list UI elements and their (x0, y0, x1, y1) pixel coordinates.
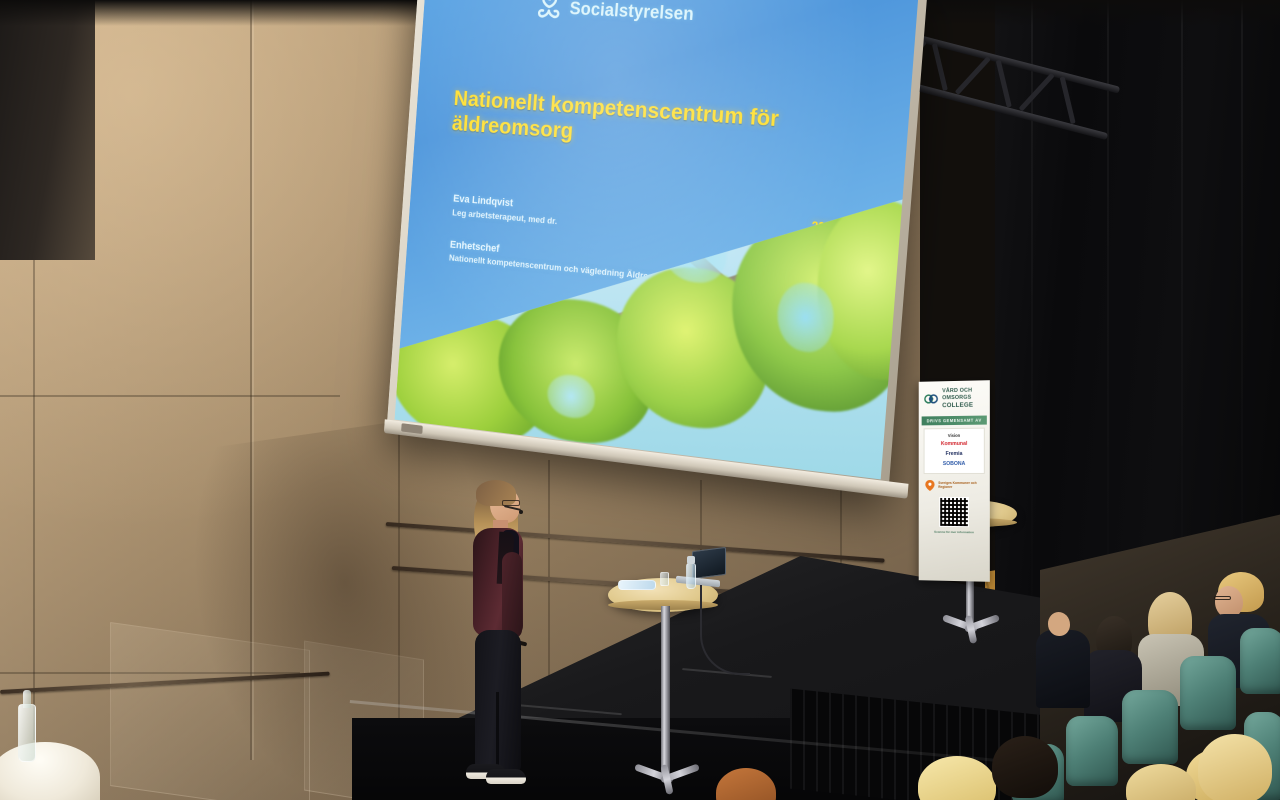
bottle-neck (23, 690, 31, 708)
auditorium-seat (1240, 628, 1280, 694)
microphone-tip (519, 510, 523, 514)
presentation-photo-scene: Socialstyrelsen Nationellt kompetenscent… (0, 0, 1280, 800)
banner-sponsor-list: Vision Kommunal Fremia SOBONA (924, 428, 985, 474)
truss-web (1060, 76, 1076, 124)
presenter-leg-gap (496, 692, 499, 772)
banner-logo: VÅRD OCH OMSORGS COLLEGE (919, 387, 990, 410)
paper-sheet (618, 580, 656, 590)
audience-body (1036, 630, 1090, 708)
projection-screen: Socialstyrelsen Nationellt kompetenscent… (386, 0, 928, 494)
qr-code-icon (939, 497, 969, 527)
banner-secondary-logo: Sveriges Kommuner och Regioner (919, 479, 990, 492)
banner-title-line-3: COLLEGE (942, 401, 973, 409)
slide-title: Nationellt kompetenscentrum för äldreoms… (451, 86, 901, 167)
banner-title: VÅRD OCH OMSORGS COLLEGE (942, 388, 973, 410)
auditorium-seat (1180, 656, 1236, 730)
sponsor-logo-kommunal: Kommunal (927, 440, 982, 450)
wall-seam (0, 395, 340, 397)
audience-head (1048, 612, 1070, 636)
auditorium-seat (1066, 716, 1118, 786)
truss-web (955, 56, 991, 95)
presenter (446, 478, 546, 798)
sponsor-logo-fremia: Fremia (927, 450, 982, 460)
bottle-cap-icon (687, 556, 695, 564)
sveriges-kommuner-och-regioner-icon (925, 479, 936, 492)
vard-och-omsorgs-college-logo-icon (924, 390, 940, 407)
organization-logo: Socialstyrelsen (533, 0, 695, 33)
truss-web (932, 43, 948, 91)
truss-web (1019, 73, 1055, 112)
glass-balustrade-panel (110, 622, 310, 800)
banner-green-bar: DRIVS GEMENSAMT AV (922, 416, 987, 426)
audience-head (1198, 734, 1272, 800)
presenter-arm (502, 552, 522, 638)
secondary-logo-caption: Sveriges Kommuner och Regioner (938, 481, 990, 490)
presentation-slide: Socialstyrelsen Nationellt kompetenscent… (395, 0, 920, 479)
glasses-icon (1214, 596, 1231, 600)
truss-web (996, 60, 1012, 108)
laptop-icon (692, 547, 726, 579)
audience-head (992, 736, 1058, 798)
drinking-glass-icon (660, 572, 669, 586)
stage-curtain-left (0, 0, 95, 260)
presenter-shoe (486, 769, 526, 784)
auditorium-seat (1122, 690, 1178, 764)
banner-title-line-2: OMSORGS (942, 394, 973, 401)
rollup-banner: VÅRD OCH OMSORGS COLLEGE DRIVS GEMENSAMT… (919, 380, 990, 582)
water-bottle-icon (686, 563, 696, 589)
sponsor-logo-sobona: SOBONA (927, 460, 982, 470)
screen-canvas: Socialstyrelsen Nationellt kompetenscent… (395, 0, 920, 479)
organization-logo-text: Socialstyrelsen (569, 0, 695, 26)
qr-caption: Scanna för mer information (919, 529, 990, 534)
glass-bottle-icon (18, 704, 36, 762)
table-pedestal (661, 606, 670, 774)
socialstyrelsen-knot-logo-icon (533, 0, 565, 26)
